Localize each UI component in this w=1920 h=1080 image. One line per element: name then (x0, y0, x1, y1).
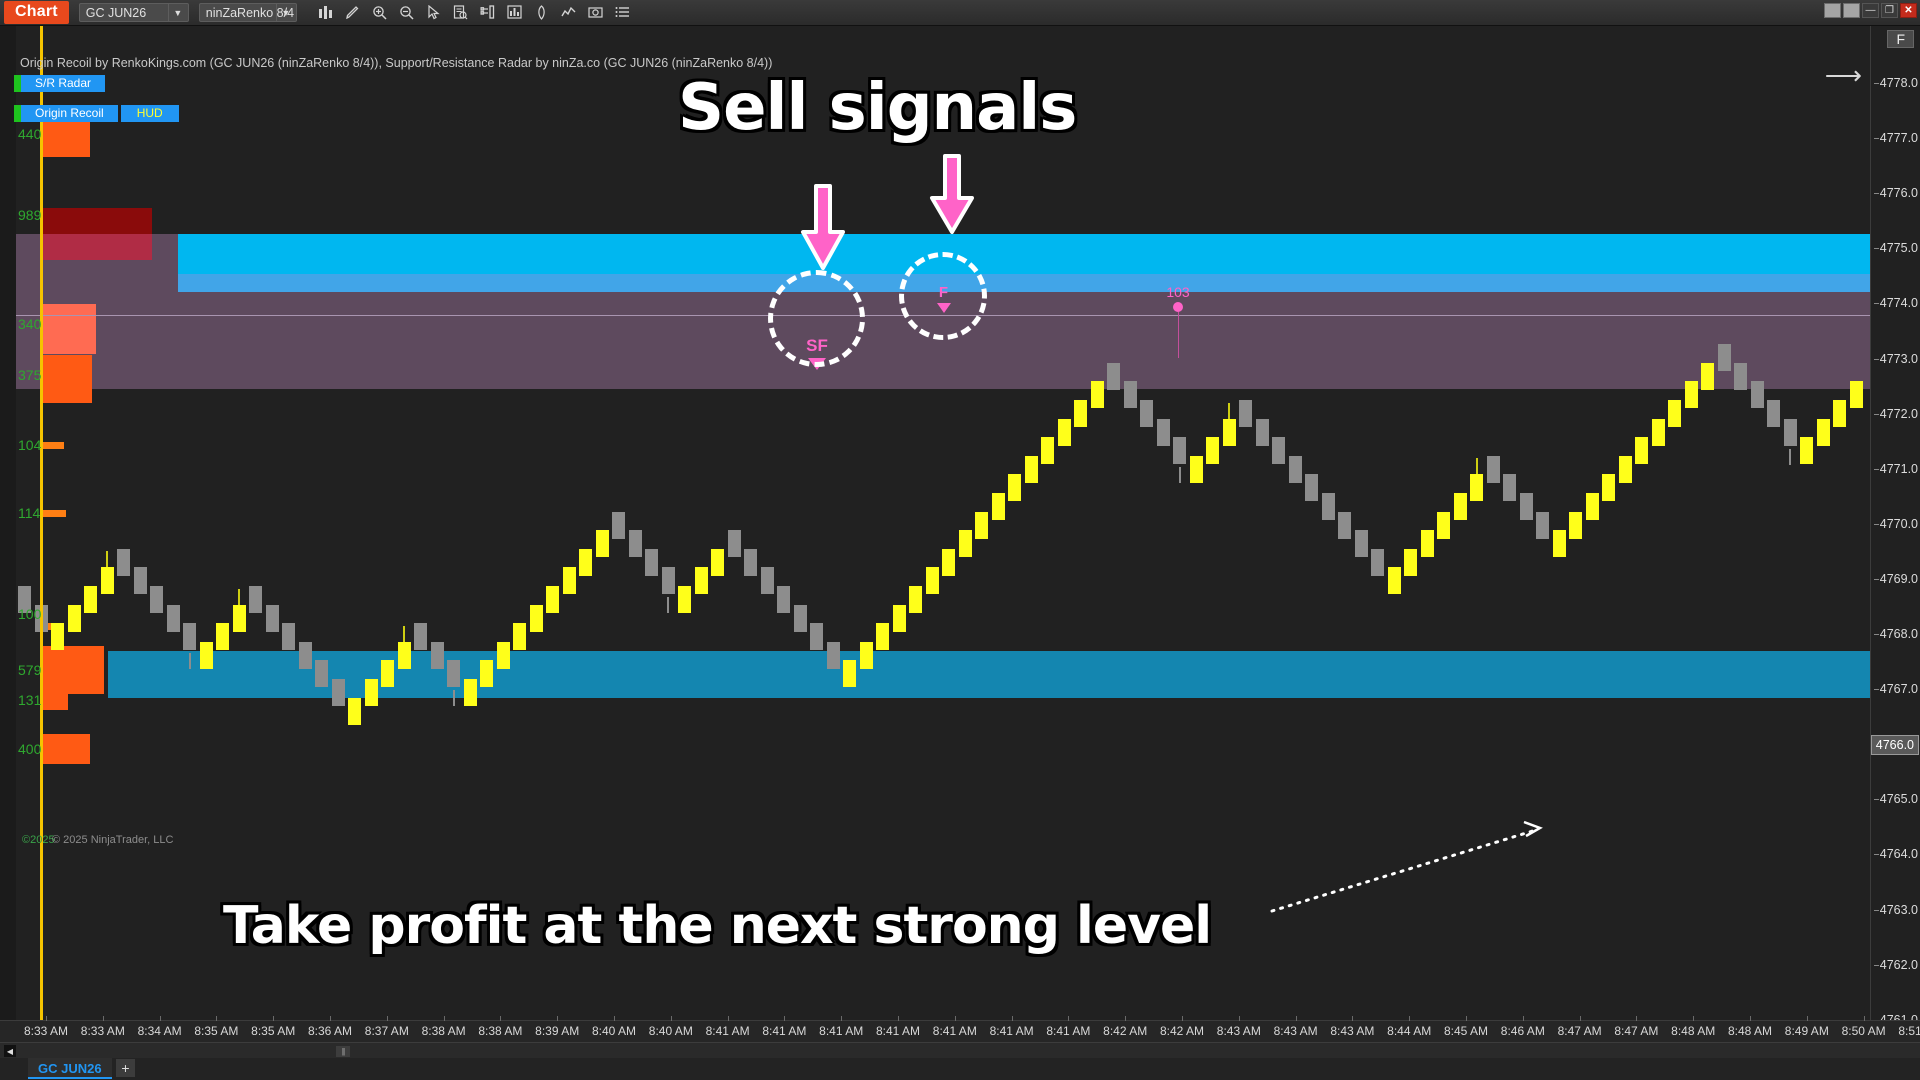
time-gridline (784, 1016, 785, 1021)
dot-marker-103: 103 (1148, 284, 1208, 358)
price-bar (1503, 474, 1516, 501)
time-tick: 8:41 AM (933, 1024, 977, 1038)
time-gridline (330, 1016, 331, 1021)
left-margin-strip (8, 26, 16, 1020)
price-bar (1388, 567, 1401, 594)
price-bar (728, 530, 741, 557)
price-tick: 4777.0 (1880, 131, 1918, 145)
indicator-chip-origin-recoil[interactable]: Origin Recoil HUD (14, 105, 179, 122)
price-bar (959, 530, 972, 557)
price-bar (1602, 474, 1615, 501)
price-bar (398, 642, 411, 669)
time-tick: 8:50 AM (1842, 1024, 1886, 1038)
price-bar (233, 605, 246, 632)
instrument-select-value: GC JUN26 (80, 6, 168, 20)
time-gridline (1012, 1016, 1013, 1021)
price-bar (596, 530, 609, 557)
time-tick: 8:35 AM (194, 1024, 238, 1038)
price-bar (1190, 456, 1203, 483)
time-tick: 8:44 AM (1387, 1024, 1431, 1038)
price-bar (1256, 419, 1269, 446)
sf-signal-circle (768, 270, 865, 367)
chevron-down-icon[interactable]: ▼ (168, 4, 187, 21)
window-button-2[interactable] (1843, 3, 1860, 18)
sell-arrow-right-icon (929, 154, 975, 236)
price-bar (183, 623, 196, 650)
price-bar (84, 586, 97, 613)
time-tick: 8:47 AM (1614, 1024, 1658, 1038)
chart-trader-icon[interactable] (556, 2, 581, 24)
price-bar (827, 642, 840, 669)
time-gridline (103, 1016, 104, 1021)
price-bar (117, 549, 130, 576)
price-bar (365, 679, 378, 706)
price-bar (315, 660, 328, 687)
price-bar (942, 549, 955, 576)
time-gridline (1409, 1016, 1410, 1021)
price-bar-wick (667, 597, 669, 613)
vp-label-579: 579 (18, 662, 41, 678)
price-bar (1553, 530, 1566, 557)
price-bar (216, 623, 229, 650)
instrument-select[interactable]: GC JUN26 ▼ (79, 3, 189, 22)
last-price-label: 4766.0 (1871, 735, 1919, 755)
properties-icon[interactable] (475, 2, 500, 24)
time-gridline (1636, 1016, 1637, 1021)
time-tick: 8:45 AM (1444, 1024, 1488, 1038)
price-bar (332, 679, 345, 706)
price-bar (497, 642, 510, 669)
time-gridline (671, 1016, 672, 1021)
price-bar (992, 493, 1005, 520)
time-gridline (387, 1016, 388, 1021)
price-tick: 4778.0 (1880, 76, 1918, 90)
price-bar (431, 642, 444, 669)
price-bar (1701, 363, 1714, 390)
price-bar (1041, 437, 1054, 464)
price-tick: 4772.0 (1880, 407, 1918, 421)
vp-label-114: 114 (18, 505, 40, 521)
price-bar (695, 567, 708, 594)
price-bar (150, 586, 163, 613)
price-bar (810, 623, 823, 650)
price-bar (447, 660, 460, 687)
horizontal-scrollbar[interactable]: ◀ ||| (0, 1042, 1920, 1058)
take-profit-pointer-line (1268, 816, 1558, 916)
price-bar (1437, 512, 1450, 539)
price-bar (1338, 512, 1351, 539)
price-tick: 4770.0 (1880, 517, 1918, 531)
price-bar (1157, 419, 1170, 446)
price-bar (893, 605, 906, 632)
time-gridline (614, 1016, 615, 1021)
dot-marker-label: 103 (1148, 284, 1208, 300)
price-bar (480, 660, 493, 687)
price-bar (1470, 474, 1483, 501)
price-bar (662, 567, 675, 594)
time-tick: 8:33 AM (24, 1024, 68, 1038)
vp-label-400: 400 (18, 741, 41, 757)
price-bar-wick (106, 551, 108, 567)
time-gridline (444, 1016, 445, 1021)
drawing-tools-icon[interactable] (529, 2, 554, 24)
price-bar (68, 605, 81, 632)
time-tick: 8:48 AM (1728, 1024, 1772, 1038)
volume-bar-375 (42, 355, 92, 403)
time-tick: 8:36 AM (308, 1024, 352, 1038)
price-tick: 4771.0 (1880, 462, 1918, 476)
time-gridline (1693, 1016, 1694, 1021)
price-tick: 4764.0 (1880, 847, 1918, 861)
price-bar (1223, 419, 1236, 446)
time-gridline (1068, 1016, 1069, 1021)
tab-gc-jun26[interactable]: GC JUN26 (28, 1058, 112, 1079)
price-bar (1454, 493, 1467, 520)
price-bar (1404, 549, 1417, 576)
price-tick: 4775.0 (1880, 241, 1918, 255)
price-bar (1272, 437, 1285, 464)
time-gridline (1523, 1016, 1524, 1021)
volume-bar-989-overlay (42, 234, 152, 260)
time-tick: 8:41 AM (819, 1024, 863, 1038)
price-bar (563, 567, 576, 594)
price-bar (1751, 381, 1764, 408)
time-tick: 8:37 AM (365, 1024, 409, 1038)
time-tick: 8:38 AM (422, 1024, 466, 1038)
price-bar-wick (1476, 458, 1478, 474)
volume-bar-131 (42, 694, 68, 710)
price-bar (843, 660, 856, 687)
price-bar (909, 586, 922, 613)
price-bar (1569, 512, 1582, 539)
price-bar (761, 567, 774, 594)
chip-status-bar (14, 105, 21, 122)
price-bar (579, 549, 592, 576)
toolbar-icon-group (311, 2, 635, 24)
time-tick: 8:43 AM (1274, 1024, 1318, 1038)
price-tick: 4763.0 (1880, 903, 1918, 917)
time-gridline (728, 1016, 729, 1021)
supply-zone-upper (178, 234, 1870, 274)
period-select[interactable]: ninZaRenko 8/4 ▼ (199, 3, 297, 22)
price-bar-wick (238, 589, 240, 605)
price-bar (1107, 363, 1120, 390)
price-bar (513, 623, 526, 650)
volume-bar-114 (42, 510, 66, 517)
time-gridline (898, 1016, 899, 1021)
price-tick: 4762.0 (1880, 958, 1918, 972)
price-bar (711, 549, 724, 576)
zoom-in-icon[interactable] (367, 2, 392, 24)
price-bar (1091, 381, 1104, 408)
minimize-icon[interactable]: — (1862, 3, 1879, 18)
price-bar (1239, 400, 1252, 427)
cursor-arrow-icon[interactable] (421, 2, 446, 24)
time-tick: 8:34 AM (138, 1024, 182, 1038)
vp-label-375: 375 (18, 367, 41, 383)
price-bar-wick (453, 690, 455, 706)
maximize-icon[interactable]: ❐ (1881, 3, 1898, 18)
copyright-mark: ©2025 (22, 834, 55, 846)
price-tick: 4767.0 (1880, 682, 1918, 696)
price-bar (678, 586, 691, 613)
price-bar (1520, 493, 1533, 520)
price-bar (530, 605, 543, 632)
price-bar (1124, 381, 1137, 408)
price-bar (1652, 419, 1665, 446)
time-tick: 8:41 AM (1046, 1024, 1090, 1038)
chart-plot[interactable]: 440 989 340 375 104 114 100 579 131 400 … (8, 26, 1870, 1020)
price-bar (1173, 437, 1186, 464)
price-bar (1850, 381, 1863, 408)
time-gridline (46, 1016, 47, 1021)
period-select-value: ninZaRenko 8/4 (200, 6, 276, 20)
time-axis[interactable]: 8:33 AM8:33 AM8:34 AM8:35 AM8:35 AM8:36 … (0, 1020, 1920, 1042)
price-bar (348, 698, 361, 725)
price-bar-wick (1179, 467, 1181, 483)
price-bar (1206, 437, 1219, 464)
time-gridline (1239, 1016, 1240, 1021)
chart-tab-bar: GC JUN26 + (0, 1058, 1920, 1080)
price-tick: 4768.0 (1880, 627, 1918, 641)
scroll-to-right-arrow-icon[interactable]: ⟶ (1825, 60, 1862, 91)
price-bar (1800, 437, 1813, 464)
time-gridline (1807, 1016, 1808, 1021)
chip-status-bar (14, 75, 21, 92)
close-icon[interactable]: ✕ (1900, 3, 1917, 18)
time-gridline (1466, 1016, 1467, 1021)
chart-area[interactable]: 440 989 340 375 104 114 100 579 131 400 … (0, 26, 1920, 1026)
time-tick: 8:51 AM (1898, 1024, 1920, 1038)
price-bar (1355, 530, 1368, 557)
price-bar (546, 586, 559, 613)
indicators-icon[interactable] (502, 2, 527, 24)
chart-subtitle: Origin Recoil by RenkoKings.com (GC JUN2… (20, 56, 772, 70)
vp-label-440: 440 (18, 126, 41, 142)
price-bar (645, 549, 658, 576)
price-tick: 4765.0 (1880, 792, 1918, 806)
time-tick: 8:40 AM (649, 1024, 693, 1038)
scroll-left-icon[interactable]: ◀ (4, 1045, 16, 1057)
copyright-text: © 2025 NinjaTrader, LLC (52, 834, 173, 846)
scrollbar-grip[interactable]: ||| (336, 1046, 350, 1057)
price-bar (282, 623, 295, 650)
time-tick: 8:33 AM (81, 1024, 125, 1038)
time-tick: 8:42 AM (1160, 1024, 1204, 1038)
price-bar (266, 605, 279, 632)
vp-label-131: 131 (18, 692, 41, 708)
time-gridline (1296, 1016, 1297, 1021)
bar-chart-icon[interactable] (313, 2, 338, 24)
volume-bar-104 (42, 442, 64, 449)
time-tick: 8:41 AM (990, 1024, 1034, 1038)
time-tick: 8:49 AM (1785, 1024, 1829, 1038)
price-bar (1487, 456, 1500, 483)
time-tick: 8:43 AM (1217, 1024, 1261, 1038)
time-gridline (557, 1016, 558, 1021)
add-tab-button[interactable]: + (116, 1059, 135, 1077)
volume-bar-340 (42, 304, 96, 354)
time-tick: 8:47 AM (1558, 1024, 1602, 1038)
time-gridline (1182, 1016, 1183, 1021)
time-gridline (160, 1016, 161, 1021)
time-tick: 8:41 AM (706, 1024, 750, 1038)
price-bar (926, 567, 939, 594)
price-bar (101, 567, 114, 594)
price-bar (1536, 512, 1549, 539)
price-bar-wick (189, 653, 191, 669)
price-axis[interactable]: F 4778.04777.04776.04775.04774.04773.047… (1870, 26, 1920, 1020)
indicator-chip-label: S/R Radar (21, 75, 105, 92)
time-tick: 8:39 AM (535, 1024, 579, 1038)
f-signal-circle (899, 252, 987, 340)
price-tick: 4773.0 (1880, 352, 1918, 366)
price-bar (1767, 400, 1780, 427)
supply-zone-lower (178, 274, 1870, 292)
price-bar (1734, 363, 1747, 390)
time-tick: 8:40 AM (592, 1024, 636, 1038)
time-tick: 8:42 AM (1103, 1024, 1147, 1038)
price-bar (1833, 400, 1846, 427)
price-bar (1685, 381, 1698, 408)
price-bar (249, 586, 262, 613)
time-gridline (1125, 1016, 1126, 1021)
price-bar (200, 642, 213, 669)
price-bar (1421, 530, 1434, 557)
price-bar (1305, 474, 1318, 501)
annotation-sell-signals: Sell signals (678, 71, 1076, 145)
time-gridline (1352, 1016, 1353, 1021)
vp-label-104: 104 (18, 437, 41, 453)
price-bar-wick (1789, 449, 1791, 465)
price-tick: 4776.0 (1880, 186, 1918, 200)
price-bar (134, 567, 147, 594)
pencil-icon[interactable] (340, 2, 365, 24)
vp-label-100: 100 (18, 606, 41, 622)
price-bar (381, 660, 394, 687)
data-box-icon[interactable] (448, 2, 473, 24)
price-bar (1817, 419, 1830, 446)
time-tick: 8:35 AM (251, 1024, 295, 1038)
zoom-out-icon[interactable] (394, 2, 419, 24)
price-bar (612, 512, 625, 539)
time-tick: 8:48 AM (1671, 1024, 1715, 1038)
price-bar (975, 512, 988, 539)
price-bar (167, 605, 180, 632)
window-controls: — ❐ ✕ (1824, 3, 1917, 18)
vertical-crosshair-line (40, 26, 43, 1020)
annotation-take-profit: Take profit at the next strong level (223, 896, 1211, 956)
time-tick: 8:46 AM (1501, 1024, 1545, 1038)
price-bar-wick (1228, 403, 1230, 419)
price-bar (1058, 419, 1071, 446)
price-bar (629, 530, 642, 557)
time-gridline (273, 1016, 274, 1021)
price-bar (876, 623, 889, 650)
main-toolbar: Chart GC JUN26 ▼ ninZaRenko 8/4 ▼ — ❐ ✕ (0, 0, 1920, 26)
price-bar (1718, 344, 1731, 371)
price-bar (794, 605, 807, 632)
price-bar (860, 642, 873, 669)
sell-arrow-left-icon (800, 184, 846, 272)
time-gridline (955, 1016, 956, 1021)
price-bar-wick (403, 626, 405, 642)
price-bar (1619, 456, 1632, 483)
price-bar (51, 623, 64, 650)
price-bar (1668, 400, 1681, 427)
price-bar (1586, 493, 1599, 520)
time-tick: 8:38 AM (478, 1024, 522, 1038)
chevron-down-icon[interactable]: ▼ (276, 4, 295, 21)
price-bar (1008, 474, 1021, 501)
price-bar (1371, 549, 1384, 576)
volume-bar-400 (42, 734, 90, 764)
time-gridline (216, 1016, 217, 1021)
price-tick: 4774.0 (1880, 296, 1918, 310)
price-bar (777, 586, 790, 613)
price-bar (1322, 493, 1335, 520)
window-button-1[interactable] (1824, 3, 1841, 18)
vp-label-340: 340 (18, 316, 41, 332)
dot-marker-stem (1178, 312, 1179, 358)
price-bar (1289, 456, 1302, 483)
price-tick: 4769.0 (1880, 572, 1918, 586)
time-tick: 8:41 AM (876, 1024, 920, 1038)
price-bar (1025, 456, 1038, 483)
chart-menu-button[interactable]: Chart (4, 1, 69, 24)
snapshot-icon[interactable] (583, 2, 608, 24)
price-bar (1140, 400, 1153, 427)
vp-label-989: 989 (18, 207, 41, 223)
time-tick: 8:41 AM (762, 1024, 806, 1038)
time-gridline (1580, 1016, 1581, 1021)
price-bar (744, 549, 757, 576)
indicator-chip-label: Origin Recoil (21, 105, 118, 122)
time-gridline (841, 1016, 842, 1021)
price-bar (299, 642, 312, 669)
price-bar (1784, 419, 1797, 446)
price-bar (1074, 400, 1087, 427)
price-bar (464, 679, 477, 706)
dot-marker-dot (1173, 302, 1183, 312)
time-tick: 8:43 AM (1330, 1024, 1374, 1038)
indicator-chip-sr-radar[interactable]: S/R Radar (14, 75, 105, 92)
price-bar (414, 623, 427, 650)
indicator-chip-hud-label[interactable]: HUD (121, 105, 179, 122)
volume-bar-579 (42, 646, 104, 694)
list-icon[interactable] (610, 2, 635, 24)
time-gridline (500, 1016, 501, 1021)
time-gridline (1864, 1016, 1865, 1021)
time-gridline (1750, 1016, 1751, 1021)
price-bar (1635, 437, 1648, 464)
price-axis-mode-label[interactable]: F (1887, 30, 1914, 48)
